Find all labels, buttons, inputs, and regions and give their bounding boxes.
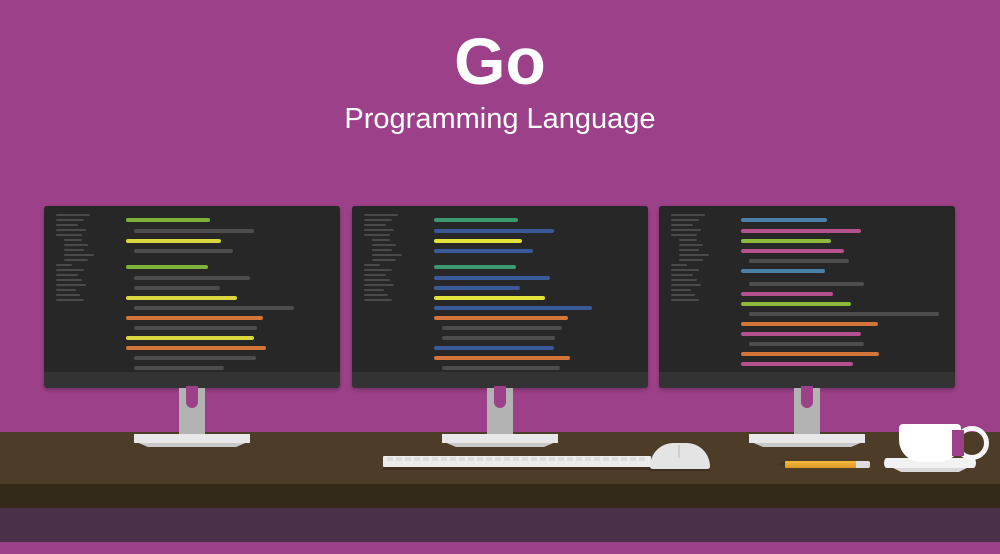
pencil-body [785,461,857,468]
monitor-center-stand-base [442,434,558,443]
code-line [741,362,853,366]
headline-block: Go Programming Language [0,24,1000,138]
code-line [134,326,257,330]
code-line [126,239,221,243]
monitor-left-stand-base [134,434,250,443]
monitor-right-stand-base [749,434,865,443]
file-tree-line [56,214,90,216]
file-tree-line [671,234,697,236]
file-tree-line [56,284,86,286]
file-tree-line [671,294,695,296]
code-line [749,282,864,286]
code-line [442,336,555,340]
file-tree-line [56,219,84,221]
file-tree-line [679,249,699,251]
monitor-center-file-tree [364,214,422,304]
pencil-eraser [856,461,870,468]
code-line [741,239,831,243]
file-tree-line [671,224,693,226]
page-title: Go [0,24,1000,98]
keyboard-shadow [383,467,651,470]
file-tree-line [671,299,699,301]
monitor-center-screen [352,206,648,372]
floor-band [0,508,1000,542]
file-tree-line [364,234,390,236]
code-line [741,302,851,306]
file-tree-line [671,279,697,281]
file-tree-line [56,224,78,226]
file-tree-line [56,229,86,231]
floor-bottom-band [0,542,1000,554]
file-tree-line [671,214,705,216]
file-tree-line [671,219,699,221]
file-tree-line [56,279,82,281]
file-tree-line [56,234,82,236]
code-line [434,316,568,320]
stand-notch [801,386,813,408]
file-tree-line [56,294,80,296]
file-tree-line [64,249,84,251]
code-line [434,346,554,350]
monitor-left-code-block [126,218,332,372]
code-line [741,218,827,222]
code-line [442,366,560,370]
file-tree-line [372,244,396,246]
monitor-left-screen [44,206,340,372]
monitor-center[interactable] [352,206,648,388]
file-tree-line [671,289,691,291]
code-line [126,296,237,300]
keyboard-keys [387,457,647,461]
code-line [134,306,294,310]
file-tree-line [56,299,84,301]
monitor-left-file-tree [56,214,114,304]
code-line [434,276,550,280]
file-tree-line [364,274,386,276]
file-tree-line [364,284,394,286]
code-line [434,265,516,269]
code-line [434,296,545,300]
file-tree-line [372,239,390,241]
file-tree-line [56,269,84,271]
code-line [134,356,256,360]
code-line [126,265,208,269]
code-line [434,249,533,253]
monitor-left[interactable] [44,206,340,388]
poster-canvas: Go Programming Language [0,0,1000,554]
monitor-left-stand-neck [179,388,205,438]
file-tree-line [364,299,392,301]
file-tree-line [364,224,386,226]
desk-edge [0,484,1000,508]
monitor-right-stand-neck [794,388,820,438]
code-line [134,249,233,253]
file-tree-line [364,279,390,281]
keyboard[interactable] [383,456,651,467]
file-tree-line [372,249,392,251]
code-line [741,249,844,253]
code-line [434,356,570,360]
file-tree-line [679,259,703,261]
code-line [741,352,879,356]
file-tree-line [364,269,392,271]
file-tree-line [64,259,88,261]
file-tree-line [364,289,384,291]
coffee-cup-handle [955,426,989,460]
code-line [134,229,254,233]
file-tree-line [671,284,701,286]
file-tree-line [364,214,398,216]
file-tree-line [671,229,701,231]
file-tree-line [372,254,402,256]
pencil[interactable] [776,461,870,468]
file-tree-line [56,289,76,291]
page-subtitle: Programming Language [0,100,1000,138]
monitor-center-code-block [434,218,640,372]
file-tree-line [364,264,380,266]
code-line [126,336,254,340]
file-tree-line [56,274,78,276]
monitor-center-stand-neck [487,388,513,438]
code-line [434,218,518,222]
file-tree-line [671,269,699,271]
monitor-right-code-block [741,218,947,372]
file-tree-line [56,264,72,266]
code-line [749,312,939,316]
code-line [741,322,878,326]
file-tree-line [372,259,396,261]
stand-notch [494,386,506,408]
code-line [126,218,210,222]
file-tree-line [64,244,88,246]
file-tree-line [364,219,392,221]
code-line [749,259,849,263]
code-line [434,239,522,243]
code-line [741,332,861,336]
code-line [741,229,861,233]
code-line [741,269,825,273]
code-line [126,316,263,320]
monitor-right[interactable] [659,206,955,388]
monitor-right-screen [659,206,955,372]
file-tree-line [64,239,82,241]
code-line [434,229,554,233]
code-line [749,342,864,346]
code-line [126,346,266,350]
file-tree-line [364,229,394,231]
code-line [741,292,833,296]
stand-notch [186,386,198,408]
file-tree-line [671,264,687,266]
monitor-right-file-tree [671,214,729,304]
file-tree-line [679,239,697,241]
file-tree-line [679,254,709,256]
file-tree-line [679,244,703,246]
file-tree-line [64,254,94,256]
file-tree-line [364,294,388,296]
code-line [442,326,562,330]
file-tree-line [671,274,693,276]
code-line [134,286,220,290]
code-line [434,286,520,290]
code-line [134,276,250,280]
code-line [134,366,224,370]
code-line [434,306,592,310]
